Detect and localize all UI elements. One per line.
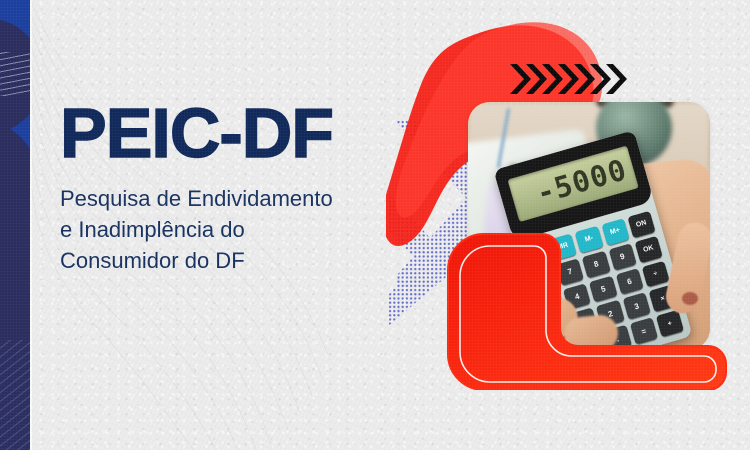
headline-block: PEIC-DF Pesquisa de Endividamento e Inad…	[60, 100, 333, 276]
red-rounded-frame	[446, 232, 746, 390]
stripe-line-texture	[0, 52, 30, 96]
forward-chevrons-icon	[510, 62, 632, 96]
subtitle-line-2: e Inadimplência do	[60, 214, 333, 245]
left-accent-stripe	[0, 0, 30, 450]
banner-stage: PEIC-DF Pesquisa de Endividamento e Inad…	[0, 0, 750, 450]
stripe-highlight-edge	[30, 0, 32, 450]
subtitle-line-1: Pesquisa de Endividamento	[60, 183, 333, 214]
subtitle-line-3: Consumidor do DF	[60, 245, 333, 276]
page-subtitle: Pesquisa de Endividamento e Inadimplênci…	[60, 183, 333, 277]
page-title: PEIC-DF	[60, 100, 333, 167]
hero-composition: -5000 MC MR M- M+ ON % 7 8 9 OK √	[388, 20, 750, 420]
stripe-diagonal-hatch	[0, 340, 30, 450]
